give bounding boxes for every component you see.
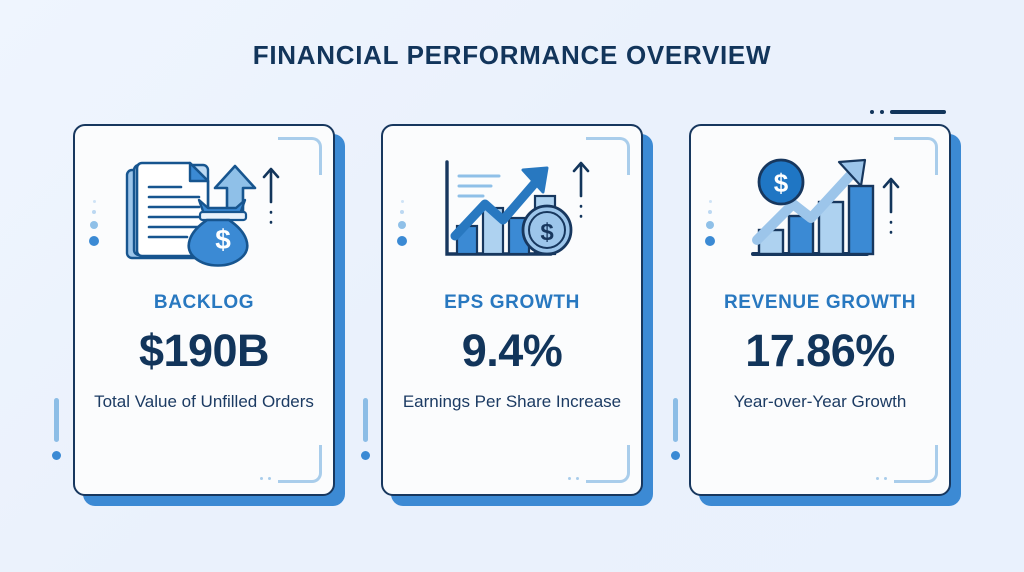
- accent-dot-1: [93, 200, 96, 203]
- svg-text:$: $: [774, 168, 789, 198]
- card-label: EPS GROWTH: [444, 292, 580, 314]
- dash-segment-2: [880, 110, 884, 114]
- corner-dots-decoration: [876, 477, 887, 480]
- corner-dot: [876, 477, 879, 480]
- exclamation-decoration-3: [671, 398, 680, 460]
- metric-card-backlog-slot: $ BACKLOG $190B Total Value of Unfilled …: [73, 124, 335, 496]
- corner-dot: [268, 477, 271, 480]
- corner-dot: [884, 477, 887, 480]
- exclamation-bar: [363, 398, 368, 442]
- accent-dot-4: [705, 236, 715, 246]
- accent-dot-4: [89, 236, 99, 246]
- metric-card-backlog[interactable]: $ BACKLOG $190B Total Value of Unfilled …: [73, 124, 335, 496]
- corner-bracket-bottom-right: [586, 445, 630, 483]
- exclamation-decoration-1: [52, 398, 61, 460]
- corner-dot: [260, 477, 263, 480]
- accent-dot-1: [401, 200, 404, 203]
- metric-card-revenue-growth-slot: $ REVENUE GROWTH 17.86% Year-over-Year G…: [689, 124, 951, 496]
- card-value: 17.86%: [745, 328, 895, 373]
- accent-dot-2: [400, 210, 404, 214]
- accent-dot-3: [706, 221, 714, 229]
- accent-dot-4: [397, 236, 407, 246]
- accent-dot-2: [708, 210, 712, 214]
- dashed-line-decoration: [870, 110, 946, 114]
- corner-dot: [576, 477, 579, 480]
- corner-dot: [568, 477, 571, 480]
- card-subtitle: Earnings Per Share Increase: [389, 391, 635, 414]
- exclamation-dot: [671, 451, 680, 460]
- metric-card-revenue-growth[interactable]: $ REVENUE GROWTH 17.86% Year-over-Year G…: [689, 124, 951, 496]
- metric-card-eps-growth-slot: $ EPS GROWTH 9.4% Earnings Per Share Inc…: [381, 124, 643, 496]
- dash-segment-1: [870, 110, 874, 114]
- metric-card-eps-growth[interactable]: $ EPS GROWTH 9.4% Earnings Per Share Inc…: [381, 124, 643, 496]
- corner-dots-decoration: [568, 477, 579, 480]
- card-label: REVENUE GROWTH: [724, 292, 916, 314]
- corner-bracket-bottom-right: [894, 445, 938, 483]
- accent-dot-column: [397, 200, 407, 246]
- exclamation-bar: [673, 398, 678, 442]
- card-subtitle: Year-over-Year Growth: [720, 391, 921, 414]
- svg-text:$: $: [540, 219, 554, 246]
- accent-dot-3: [398, 221, 406, 229]
- card-value: 9.4%: [462, 328, 563, 373]
- header: FINANCIAL PERFORMANCE OVERVIEW: [0, 0, 1024, 110]
- accent-dot-3: [90, 221, 98, 229]
- page-title: FINANCIAL PERFORMANCE OVERVIEW: [253, 40, 771, 71]
- dash-segment-3: [890, 110, 946, 114]
- svg-text:$: $: [215, 224, 231, 255]
- card-subtitle: Total Value of Unfilled Orders: [80, 391, 328, 414]
- accent-dot-2: [92, 210, 96, 214]
- exclamation-bar: [54, 398, 59, 442]
- card-value: $190B: [139, 328, 269, 373]
- card-label: BACKLOG: [154, 292, 254, 314]
- accent-dot-column: [705, 200, 715, 246]
- corner-bracket-top-right: [278, 137, 322, 175]
- exclamation-dot: [52, 451, 61, 460]
- accent-dot-1: [709, 200, 712, 203]
- exclamation-decoration-2: [361, 398, 370, 460]
- corner-bracket-top-right: [586, 137, 630, 175]
- exclamation-dot: [361, 451, 370, 460]
- corner-bracket-bottom-right: [278, 445, 322, 483]
- accent-dot-column: [89, 200, 99, 246]
- metric-card-grid: $ BACKLOG $190B Total Value of Unfilled …: [0, 124, 1024, 504]
- corner-dots-decoration: [260, 477, 271, 480]
- corner-bracket-top-right: [894, 137, 938, 175]
